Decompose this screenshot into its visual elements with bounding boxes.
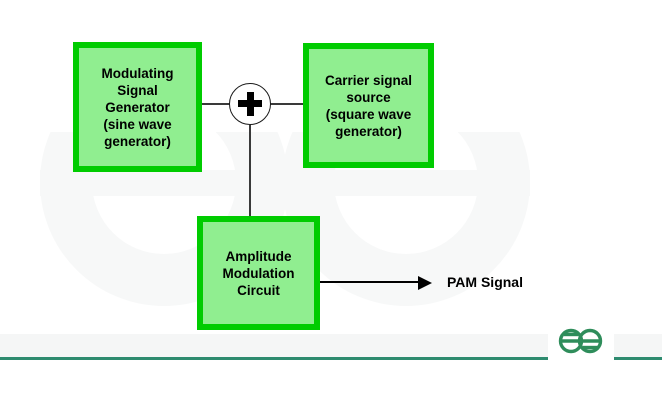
block-amplitude-modulation-circuit[interactable]: Amplitude Modulation Circuit [197,216,320,330]
block-modulating-line-4: (sine wave [98,116,178,133]
block-modulating-line-1: Modulating [98,65,178,82]
wire-modulating-to-summing [202,103,230,105]
block-amplitude-label: Amplitude Modulation Circuit [215,248,303,299]
block-modulating-line-3: Generator [98,99,178,116]
wire-summing-to-amplitude [249,125,251,217]
block-carrier-line-4: generator) [321,123,416,140]
block-carrier-line-2: source [321,89,416,106]
block-carrier-line-1: Carrier signal [321,72,416,89]
block-carrier-signal-source[interactable]: Carrier signal source (square wave gener… [303,43,434,168]
block-carrier-label: Carrier signal source (square wave gener… [317,72,420,140]
wire-summing-to-carrier [270,103,304,105]
block-amplitude-line-2: Modulation [219,265,299,282]
block-modulating-signal-generator[interactable]: Modulating Signal Generator (sine wave g… [73,42,202,172]
block-modulating-line-2: Signal [98,82,178,99]
block-carrier-line-3: (square wave [321,106,416,123]
plus-icon-vertical-bar [247,92,254,116]
geeksforgeeks-logo-icon [552,320,610,362]
block-amplitude-line-1: Amplitude [219,248,299,265]
output-arrow-shaft [320,281,424,283]
block-modulating-line-5: generator) [98,133,178,150]
output-label-pam-signal: PAM Signal [447,274,523,290]
block-modulating-label: Modulating Signal Generator (sine wave g… [94,65,182,150]
diagram-canvas: Modulating Signal Generator (sine wave g… [0,0,662,402]
output-arrow-head-icon [418,276,432,290]
block-amplitude-line-3: Circuit [219,282,299,299]
